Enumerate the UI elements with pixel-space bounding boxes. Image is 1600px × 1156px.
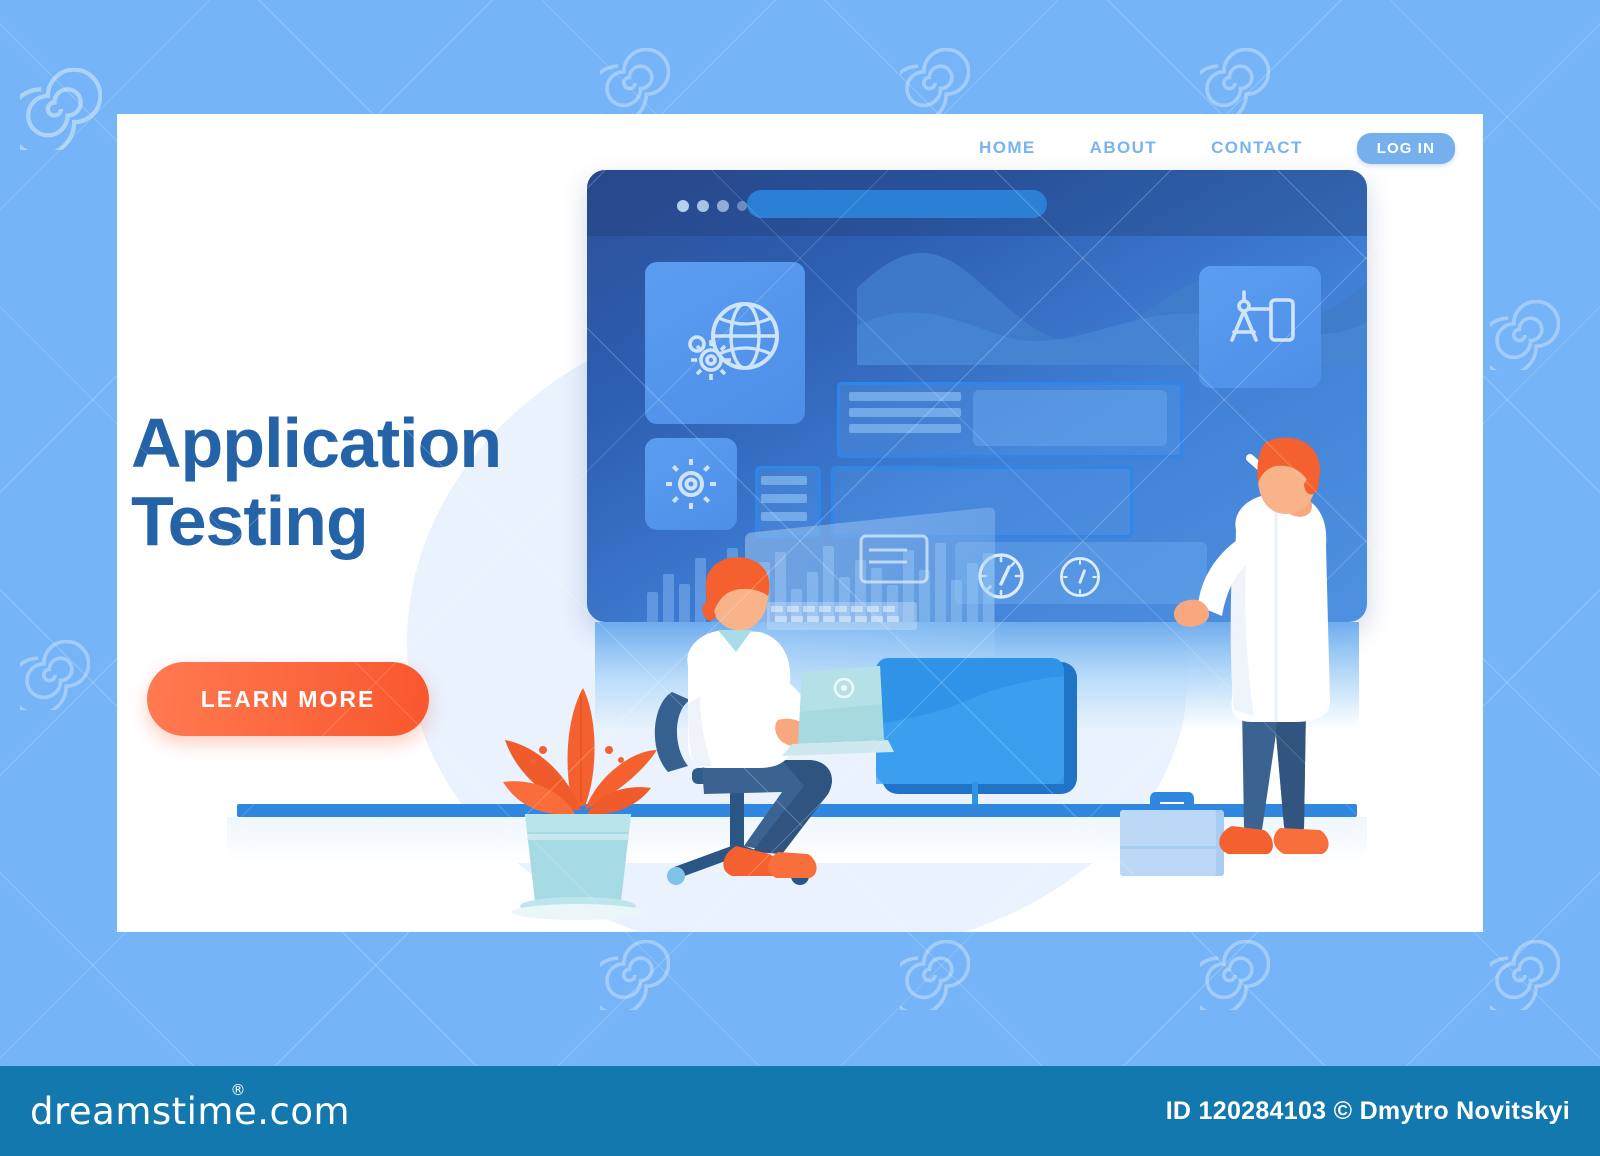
compass-drafting-icon (1221, 288, 1301, 368)
text-line (849, 408, 961, 417)
tablet-device (872, 654, 1087, 814)
watermark-spiral-icon (1490, 300, 1560, 370)
page-title: Application Testing (131, 404, 651, 561)
window-dot-icon (697, 200, 709, 212)
dreamstime-logo-text: dreamstime.com (30, 1090, 350, 1133)
page-title-line-2: Testing (131, 482, 651, 560)
text-line (761, 494, 807, 503)
learn-more-button[interactable]: LEARN MORE (147, 662, 429, 736)
watermark-spiral-icon (1200, 940, 1270, 1010)
watermark-spiral-icon (600, 48, 670, 118)
window-dot-icon (737, 201, 747, 211)
watermark-spiral-icon (600, 940, 670, 1010)
gear-icon (663, 456, 719, 512)
image-credit: ID 120284103 © Dmytro Novitskyi (1166, 1097, 1570, 1126)
dreamstime-logo: dreamstime.com ® (30, 1090, 350, 1133)
address-bar[interactable] (747, 190, 1047, 218)
text-line (761, 476, 807, 485)
watermark-spiral-icon (1200, 48, 1270, 118)
globe-gears-icon (679, 288, 797, 400)
watermark-spiral-icon (20, 68, 102, 150)
nav-link-home[interactable]: HOME (979, 138, 1036, 158)
gauge-icon (1057, 554, 1103, 600)
login-button[interactable]: LOG IN (1357, 133, 1455, 164)
seated-developer (632, 554, 902, 904)
window-dot-icon (677, 200, 689, 212)
watermark-spiral-icon (20, 640, 90, 710)
text-line (761, 512, 807, 521)
nav-link-about[interactable]: ABOUT (1090, 138, 1157, 158)
text-line (849, 424, 961, 433)
footer-bar: dreamstime.com ® ID 120284103 © Dmytro N… (0, 1066, 1600, 1156)
window-dot-icon (717, 200, 729, 212)
watermark-spiral-icon (900, 48, 970, 118)
standing-tester (1172, 434, 1372, 884)
watermark-spiral-icon (1490, 940, 1560, 1010)
page-title-line-1: Application (131, 404, 651, 482)
nav-link-contact[interactable]: CONTACT (1211, 138, 1303, 158)
watermark-spiral-icon (900, 940, 970, 1010)
landing-page-card: HOME ABOUT CONTACT LOG IN Application Te… (117, 114, 1483, 932)
text-line (849, 392, 961, 401)
top-navigation: HOME ABOUT CONTACT LOG IN (979, 120, 1455, 176)
content-placeholder (973, 390, 1167, 446)
registered-mark-icon: ® (231, 1081, 247, 1099)
